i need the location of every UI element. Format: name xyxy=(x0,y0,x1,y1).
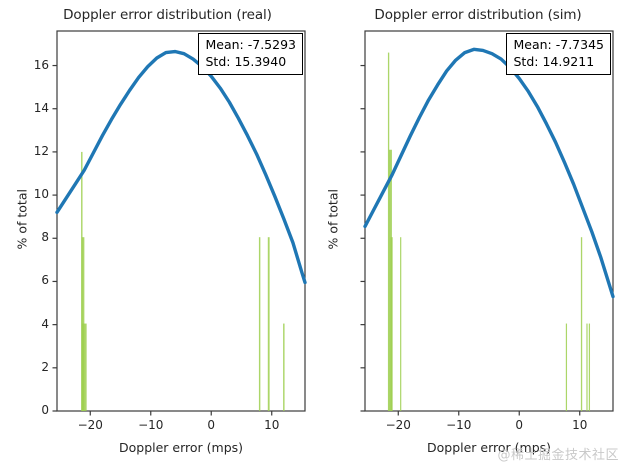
figure-canvas: Doppler error distribution (real) Dopple… xyxy=(0,0,625,469)
std-value-real: Std: 15.3940 xyxy=(206,54,297,71)
y-tick-label: 10 xyxy=(9,187,49,201)
y-tick-label: 4 xyxy=(9,317,49,331)
std-value-sim: Std: 14.9211 xyxy=(514,54,605,71)
y-tick-label: 14 xyxy=(9,101,49,115)
y-tick-label: 2 xyxy=(9,360,49,374)
stats-annotation-sim: Mean: -7.7345 Std: 14.9211 xyxy=(506,33,612,75)
x-tick-label: 10 xyxy=(560,418,600,432)
x-tick-label: −10 xyxy=(131,418,171,432)
x-axis-label-real: Doppler error (mps) xyxy=(61,440,301,455)
x-tick-label: −20 xyxy=(378,418,418,432)
chart-panel-real: Doppler error distribution (real) Dopple… xyxy=(0,0,313,469)
x-tick-label: −20 xyxy=(70,418,110,432)
mean-value-real: Mean: -7.5293 xyxy=(206,37,297,54)
y-tick-label: 6 xyxy=(9,273,49,287)
y-tick-label: 8 xyxy=(9,230,49,244)
chart-panel-sim: Doppler error distribution (sim) Doppler… xyxy=(313,0,625,469)
mean-value-sim: Mean: -7.7345 xyxy=(514,37,605,54)
x-axis-label-sim: Doppler error (mps) xyxy=(369,440,609,455)
y-tick-label: 12 xyxy=(9,144,49,158)
y-tick-label: 16 xyxy=(9,58,49,72)
x-tick-label: 0 xyxy=(191,418,231,432)
x-tick-label: 10 xyxy=(252,418,292,432)
y-axis-label-sim: % of total xyxy=(326,190,341,250)
x-tick-label: 0 xyxy=(499,418,539,432)
x-tick-label: −10 xyxy=(439,418,479,432)
stats-annotation-real: Mean: -7.5293 Std: 15.3940 xyxy=(198,33,304,75)
y-tick-label: 0 xyxy=(9,403,49,417)
